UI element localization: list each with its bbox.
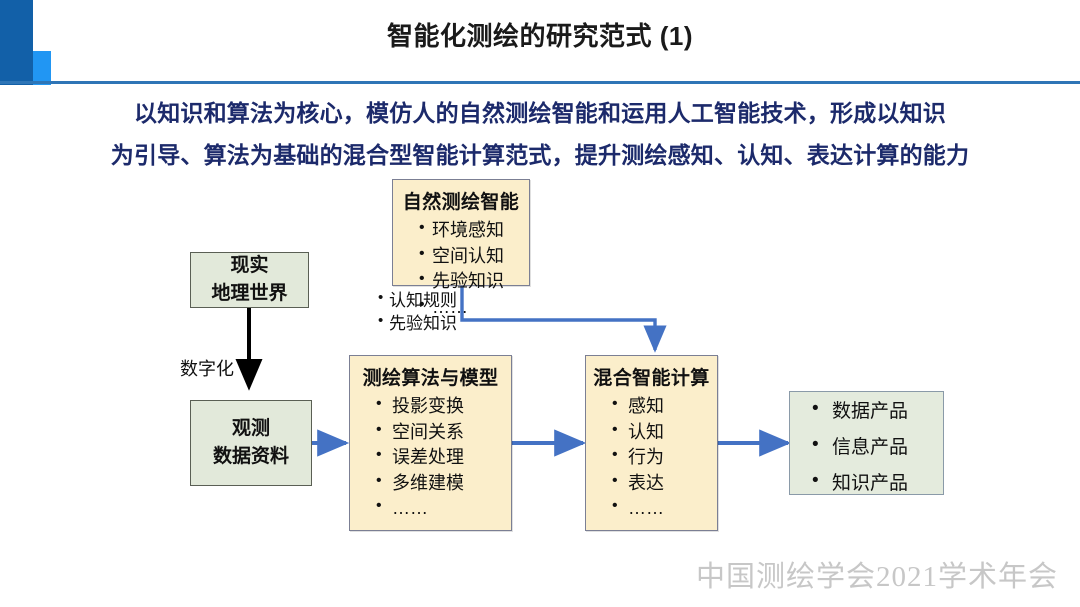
list-item: 多维建模 bbox=[376, 471, 511, 497]
label-line-1: 认知规则 bbox=[378, 290, 457, 313]
box-bullet-list: 投影变换 空间关系 误差处理 多维建模 …… bbox=[350, 394, 511, 522]
box-real-geographic-world: 现实 地理世界 bbox=[190, 252, 309, 308]
box-natural-surveying-intelligence: 自然测绘智能 环境感知 空间认知 先验知识 …… bbox=[392, 179, 530, 286]
label-digitize: 数字化 bbox=[180, 355, 234, 381]
list-item: 信息产品 bbox=[812, 438, 943, 457]
list-item: 环境感知 bbox=[419, 218, 529, 244]
box-text-lines: 现实 地理世界 bbox=[191, 253, 308, 307]
list-item: 认知 bbox=[612, 420, 717, 446]
box-heading: 测绘算法与模型 bbox=[350, 356, 511, 394]
box-line-1: 现实 bbox=[191, 252, 308, 281]
box-heading: 自然测绘智能 bbox=[393, 180, 529, 218]
list-item: 投影变换 bbox=[376, 394, 511, 420]
list-item: 误差处理 bbox=[376, 445, 511, 471]
list-item: 空间关系 bbox=[376, 420, 511, 446]
label-line-2: 先验知识 bbox=[378, 313, 457, 336]
list-item: 数据产品 bbox=[812, 402, 943, 421]
product-list: 数据产品 信息产品 知识产品 bbox=[790, 392, 943, 510]
list-item: 表达 bbox=[612, 471, 717, 497]
box-line-2: 地理世界 bbox=[191, 280, 308, 309]
box-bullet-list: 感知 认知 行为 表达 …… bbox=[586, 394, 717, 522]
subtitle-line-2: 为引导、算法为基础的混合型智能计算范式，提升测绘感知、认知、表达计算的能力 bbox=[40, 134, 1040, 176]
box-observation-data: 观测 数据资料 bbox=[190, 400, 312, 486]
box-heading: 混合智能计算 bbox=[586, 356, 717, 394]
box-line-1: 观测 bbox=[191, 415, 311, 444]
box-surveying-algorithms-models: 测绘算法与模型 投影变换 空间关系 误差处理 多维建模 …… bbox=[349, 355, 512, 531]
conference-watermark: 中国测绘学会2021学术年会 bbox=[696, 553, 1058, 595]
slide-canvas: 智能化测绘的研究范式 (1) 以知识和算法为核心，模仿人的自然测绘智能和运用人工… bbox=[0, 0, 1080, 607]
box-text-lines: 观测 数据资料 bbox=[191, 401, 311, 485]
box-hybrid-intelligent-computing: 混合智能计算 感知 认知 行为 表达 …… bbox=[585, 355, 718, 531]
list-item: 行为 bbox=[612, 445, 717, 471]
page-title: 智能化测绘的研究范式 (1) bbox=[0, 16, 1080, 53]
list-item: 空间认知 bbox=[419, 244, 529, 270]
header-deco-light-block bbox=[33, 51, 51, 85]
list-item: …… bbox=[376, 496, 511, 522]
header-divider-rule bbox=[0, 81, 1080, 84]
label-knowledge-link: 认知规则 先验知识 bbox=[378, 290, 457, 336]
box-line-2: 数据资料 bbox=[191, 443, 311, 472]
list-item: 感知 bbox=[612, 394, 717, 420]
slide-subtitle: 以知识和算法为核心，模仿人的自然测绘智能和运用人工智能技术，形成以知识 为引导、… bbox=[40, 92, 1040, 176]
list-item: …… bbox=[612, 496, 717, 522]
subtitle-line-1: 以知识和算法为核心，模仿人的自然测绘智能和运用人工智能技术，形成以知识 bbox=[40, 92, 1040, 134]
box-products: 数据产品 信息产品 知识产品 bbox=[789, 391, 944, 495]
list-item: 知识产品 bbox=[812, 474, 943, 493]
